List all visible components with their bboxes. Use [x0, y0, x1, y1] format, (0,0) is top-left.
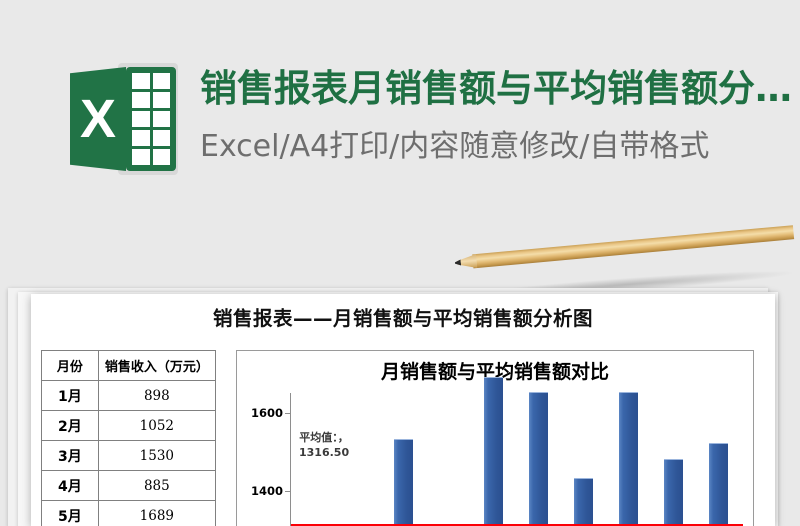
chart-bar [664, 459, 683, 526]
average-label-line1: 平均值：， [299, 430, 349, 445]
table-row: 4月 885 [42, 471, 216, 501]
preview-header: X 销售报表月销售额与平均销售额分… Excel/A4打印/内容随意修改/自带格… [0, 0, 800, 230]
table-header-month: 月份 [42, 351, 99, 381]
table-row: 1月 898 [42, 381, 216, 411]
excel-icon-letter: X [70, 67, 126, 171]
screenshot-root: X 销售报表月销售额与平均销售额分… Excel/A4打印/内容随意修改/自带格… [0, 0, 800, 526]
cell-value: 1530 [98, 441, 215, 471]
chart-bar [529, 392, 548, 526]
chart-bar [484, 377, 503, 526]
page-title: 销售报表月销售额与平均销售额分… [200, 64, 800, 114]
excel-file-icon: X [70, 63, 178, 175]
table-row: 2月 1052 [42, 411, 216, 441]
cell-value: 898 [98, 381, 215, 411]
document-preview[interactable]: 销售报表——月销售额与平均销售额分析图 月份 销售收入（万元） 1月 898 2… [31, 294, 775, 526]
pencil-lead-icon [455, 259, 462, 266]
chart-bar [709, 443, 728, 526]
cell-value: 1052 [98, 411, 215, 441]
average-value-annotation: 平均值：，1316.50 [299, 430, 349, 460]
document-title: 销售报表——月销售额与平均销售额分析图 [31, 302, 775, 331]
table-header-revenue: 销售收入（万元） [98, 351, 215, 381]
excel-icon-grid [132, 73, 170, 165]
y-axis-tick-label: 1400 [239, 484, 283, 498]
cell-month: 2月 [42, 411, 99, 441]
pencil-body [472, 225, 794, 268]
table-body: 1月 898 2月 1052 3月 1530 4月 885 5月 1689 [42, 381, 216, 526]
chart-plot-area [291, 393, 741, 526]
table-row: 3月 1530 [42, 441, 216, 471]
chart-bar [574, 478, 593, 526]
cell-month: 3月 [42, 441, 99, 471]
chart-bar [394, 439, 413, 526]
average-label-line2: 1316.50 [299, 445, 349, 460]
y-axis-tick-label: 1600 [239, 406, 283, 420]
cell-month: 4月 [42, 471, 99, 501]
table-row: 5月 1689 [42, 501, 216, 526]
sales-data-table: 月份 销售收入（万元） 1月 898 2月 1052 3月 1530 [41, 350, 216, 526]
sales-bar-chart: 月销售额与平均销售额对比 120014001600 平均值：，1316.50 [236, 350, 754, 526]
cell-value: 885 [98, 471, 215, 501]
cell-month: 1月 [42, 381, 99, 411]
cell-month: 5月 [42, 501, 99, 526]
page-subtitle: Excel/A4打印/内容随意修改/自带格式 [200, 126, 800, 168]
table-header-row: 月份 销售收入（万元） [42, 351, 216, 381]
chart-bar [619, 392, 638, 526]
cell-value: 1689 [98, 501, 215, 526]
